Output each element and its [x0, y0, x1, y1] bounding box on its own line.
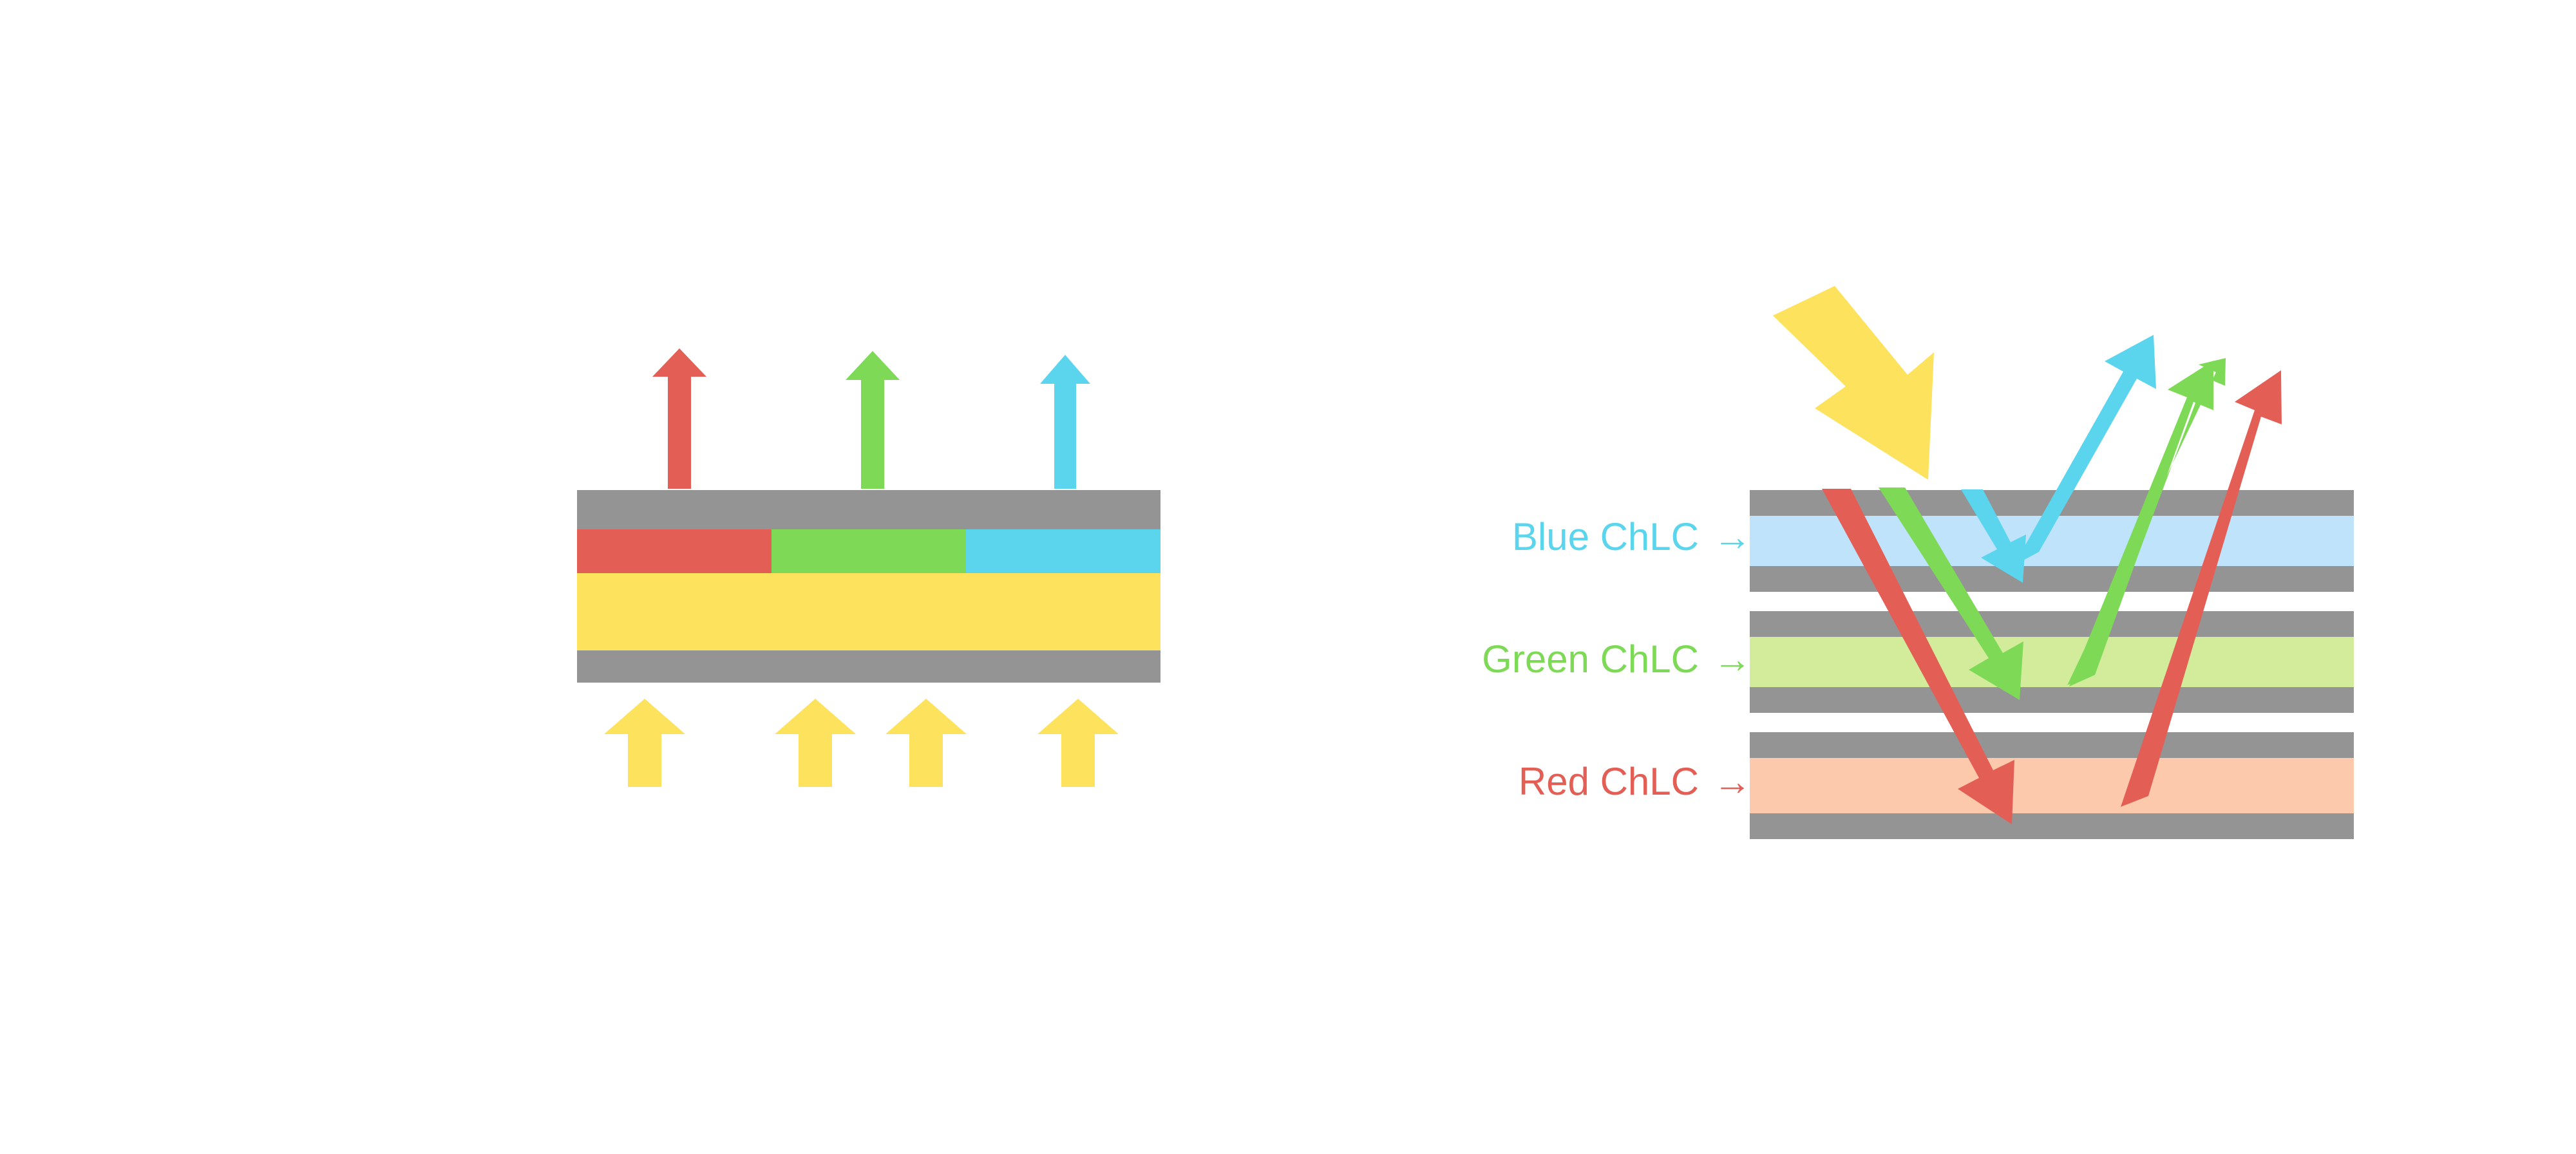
label-blue-chlc: Blue ChLC: [1512, 515, 1699, 559]
label-row-red: Red ChLC →: [1340, 755, 1752, 807]
label-arrow-blue-icon: →: [1713, 515, 1752, 559]
diagram-svg: [0, 0, 2576, 1154]
backlight-layer: [577, 573, 1160, 650]
left-panel-group: [577, 348, 1160, 787]
red-chlc-cell: [1750, 732, 2354, 839]
backlight-arrows: [604, 699, 1119, 787]
emitted-arrow-blue: [1040, 355, 1090, 489]
bottom-electrode: [577, 650, 1160, 683]
label-arrow-green-icon: →: [1713, 637, 1752, 681]
label-arrow-red-icon: →: [1713, 759, 1752, 804]
label-row-blue: Blue ChLC →: [1340, 511, 1752, 562]
label-green-chlc: Green ChLC: [1482, 637, 1699, 681]
color-filter-red: [577, 529, 772, 573]
backlight-arrow-3: [885, 699, 967, 787]
backlight-arrow-1: [604, 699, 685, 787]
color-filter-blue: [966, 529, 1160, 573]
backlight-arrow-4: [1037, 699, 1119, 787]
top-electrode: [577, 490, 1160, 529]
emitted-arrow-green: [846, 351, 900, 489]
incident-light-arrow: [1773, 286, 1934, 480]
label-red-chlc: Red ChLC: [1519, 759, 1699, 804]
color-filter-green: [772, 529, 966, 573]
green-cell-bottom-electrode: [1750, 687, 2354, 713]
green-chlc-layer: [1750, 637, 2354, 687]
red-cell-top-electrode: [1750, 732, 2354, 758]
green-chlc-cell: [1750, 611, 2354, 713]
filter-stack: [577, 490, 1160, 683]
emitted-arrow-red: [652, 348, 706, 489]
figure-canvas: Blue ChLC → Green ChLC → Red ChLC →: [0, 0, 2576, 1154]
right-panel-group: [1750, 286, 2354, 839]
green-cell-top-electrode: [1750, 611, 2354, 637]
blue-cell-bottom-electrode: [1750, 566, 2354, 592]
emitted-light-arrows: [652, 348, 1090, 489]
backlight-arrow-2: [775, 699, 856, 787]
red-cell-bottom-electrode: [1750, 813, 2354, 839]
red-chlc-layer: [1750, 758, 2354, 813]
label-row-green: Green ChLC →: [1340, 633, 1752, 685]
